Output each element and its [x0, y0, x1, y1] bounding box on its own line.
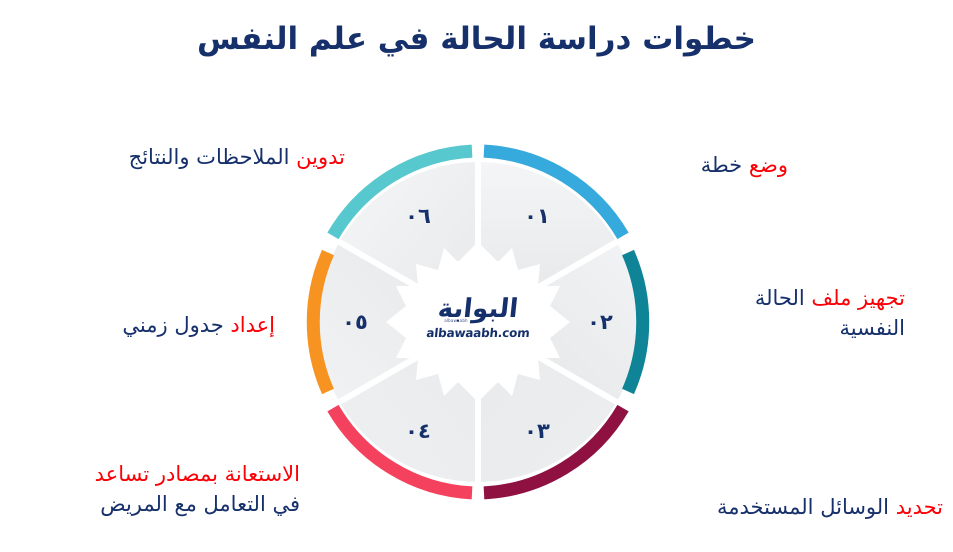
- step-label-04-text2: في التعامل مع المريض: [20, 489, 300, 519]
- page-title: خطوات دراسة الحالة في علم النفس: [0, 20, 953, 59]
- step-label-03-highlight: تحديد: [896, 495, 943, 519]
- wedge-number-01: ٠١: [524, 204, 550, 228]
- logo-watermark: albawaabh: [436, 318, 476, 323]
- center-logo: البوابة albawaabh albawaabh.com: [403, 247, 553, 397]
- logo-domain: albawaabh.com: [417, 326, 538, 340]
- wedge-number-04: ٠٤: [405, 419, 431, 443]
- step-label-01-text: خطة: [701, 153, 742, 177]
- step-label-06[interactable]: تدوين الملاحظات والنتائج: [55, 142, 345, 172]
- step-label-01[interactable]: وضع خطة: [618, 150, 788, 180]
- process-wheel: ٠١ ٠٢ ٠٣ ٠٤ ٠٥ ٠٦ البوابة albawaabh alba…: [300, 144, 656, 500]
- step-label-02[interactable]: تجهيز ملف الحالة النفسية: [665, 283, 905, 344]
- wedge-number-02: ٠٢: [587, 310, 613, 334]
- step-label-05-text: جدول زمني: [122, 313, 223, 337]
- logo-disc: البوابة albawaabh albawaabh.com: [418, 262, 538, 382]
- step-label-05[interactable]: إعداد جدول زمني: [40, 310, 275, 340]
- step-label-05-highlight: إعداد: [230, 313, 275, 337]
- step-label-04-highlight: الاستعانة بمصادر تساعد: [20, 459, 300, 489]
- step-label-03-text: الوسائل المستخدمة: [717, 495, 889, 519]
- step-label-01-highlight: وضع: [749, 153, 788, 177]
- step-label-02-text2: النفسية: [665, 313, 905, 343]
- step-label-02-text: الحالة: [755, 286, 805, 310]
- wedge-number-06: ٠٦: [405, 204, 431, 228]
- step-label-06-highlight: تدوين: [296, 145, 345, 169]
- step-label-04[interactable]: الاستعانة بمصادر تساعد في التعامل مع الم…: [20, 459, 300, 520]
- step-label-02-highlight: تجهيز ملف: [811, 286, 905, 310]
- wedge-number-03: ٠٣: [524, 419, 550, 443]
- step-label-06-text: الملاحظات والنتائج: [129, 145, 290, 169]
- wedge-number-05: ٠٥: [342, 310, 368, 334]
- step-label-03[interactable]: تحديد الوسائل المستخدمة: [603, 492, 943, 522]
